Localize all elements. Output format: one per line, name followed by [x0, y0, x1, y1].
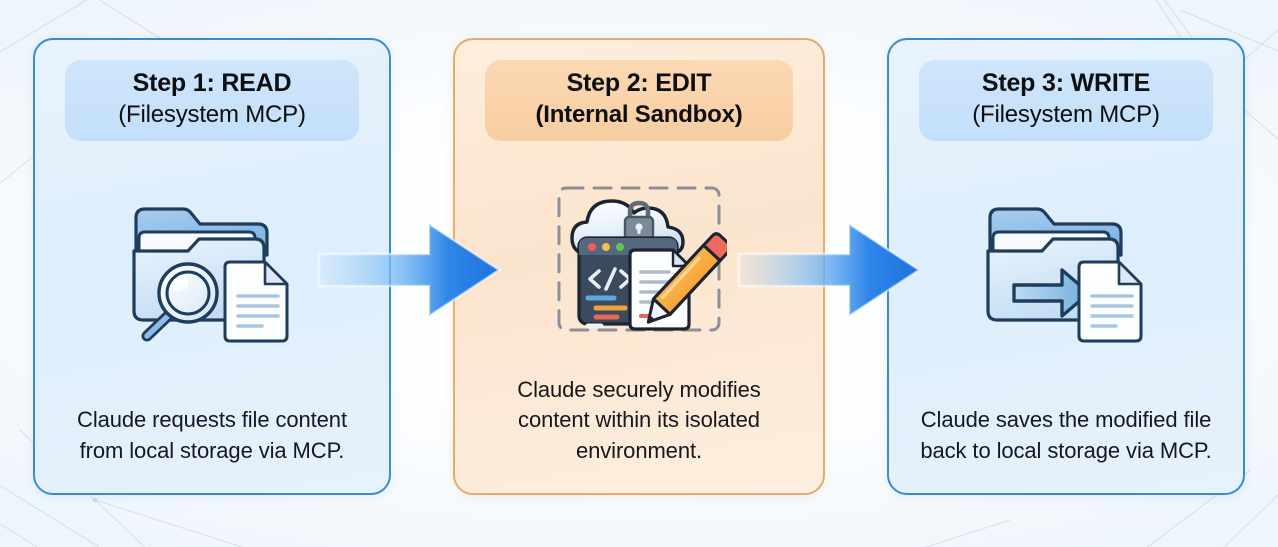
step-header-title: Step 3: WRITE: [925, 69, 1207, 99]
step-header-title: Step 1: READ: [71, 69, 353, 99]
step-panel-edit: Step 2: EDIT (Internal Sandbox): [453, 38, 825, 495]
step-header-edit: Step 2: EDIT (Internal Sandbox): [485, 60, 793, 141]
step-panel-read: Step 1: READ (Filesystem MCP): [33, 38, 391, 495]
folder-search-document-icon: [126, 198, 298, 348]
step-panel-write: Step 3: WRITE (Filesystem MCP): [887, 38, 1245, 495]
connector-gap-2: [825, 38, 887, 495]
step-caption-write: Claude saves the modified file back to l…: [903, 405, 1229, 493]
folder-arrow-document-icon-wrap: [903, 141, 1229, 406]
step-caption-read: Claude requests file content from local …: [49, 405, 375, 493]
step-header-title: Step 2: EDIT: [491, 69, 787, 99]
step-header-subtitle: (Filesystem MCP): [925, 101, 1207, 129]
folder-arrow-document-icon: [980, 198, 1152, 348]
step-header-read: Step 1: READ (Filesystem MCP): [65, 60, 359, 141]
step-header-write: Step 3: WRITE (Filesystem MCP): [919, 60, 1213, 141]
secure-cloud-code-editor-pencil-icon-wrap: [469, 141, 809, 375]
step-header-subtitle: (Filesystem MCP): [71, 101, 353, 129]
step-caption-edit: Claude securely modifies content within …: [469, 375, 809, 493]
secure-cloud-code-editor-pencil-icon: [551, 176, 727, 340]
folder-search-document-icon-wrap: [49, 141, 375, 406]
step-header-subtitle: (Internal Sandbox): [491, 101, 787, 129]
diagram-canvas: Step 1: READ (Filesystem MCP): [0, 0, 1278, 547]
connector-gap-1: [391, 38, 453, 495]
